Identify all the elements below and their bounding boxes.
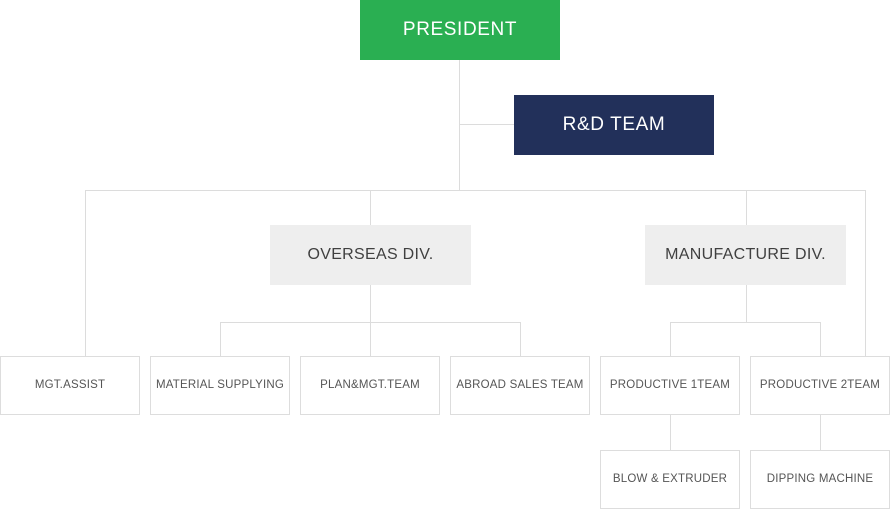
node-blow-extruder[interactable]: BLOW & EXTRUDER bbox=[600, 450, 740, 509]
connector-overseas-to-abroad-sales bbox=[520, 322, 521, 356]
connector-productive-1team-to-blow-extruder bbox=[670, 415, 671, 450]
connector-president-to-rnd bbox=[459, 124, 515, 125]
connector-president-trunk bbox=[459, 60, 460, 190]
connector-overseas-to-plan-mgt bbox=[370, 322, 371, 356]
connector-overseas-trunk bbox=[370, 285, 371, 322]
connector-bus-to-productive-2team bbox=[865, 190, 866, 356]
connector-bus-to-mgt-assist bbox=[85, 190, 86, 356]
node-overseas-div[interactable]: OVERSEAS DIV. bbox=[270, 225, 471, 285]
connector-productive-2team-to-dipping-machine bbox=[820, 415, 821, 450]
connector-manufacture-to-productive-1team bbox=[670, 322, 671, 356]
node-productive-2team[interactable]: PRODUCTIVE 2TEAM bbox=[750, 356, 890, 415]
node-abroad-sales-team[interactable]: ABROAD SALES TEAM bbox=[450, 356, 590, 415]
connector-manufacture-to-productive-2team-stub bbox=[820, 322, 821, 356]
connector-manufacture-child-bus bbox=[670, 322, 821, 323]
node-dipping-machine[interactable]: DIPPING MACHINE bbox=[750, 450, 890, 509]
connector-manufacture-trunk bbox=[746, 285, 747, 322]
node-manufacture-div[interactable]: MANUFACTURE DIV. bbox=[645, 225, 846, 285]
org-chart-canvas: PRESIDENT R&D TEAM OVERSEAS DIV. MANUFAC… bbox=[0, 0, 890, 509]
node-plan-mgt-team[interactable]: PLAN&MGT.TEAM bbox=[300, 356, 440, 415]
node-president[interactable]: PRESIDENT bbox=[360, 0, 560, 60]
node-productive-1team[interactable]: PRODUCTIVE 1TEAM bbox=[600, 356, 740, 415]
connector-division-bus bbox=[85, 190, 866, 191]
node-rnd-team[interactable]: R&D TEAM bbox=[514, 95, 714, 155]
node-material-supplying[interactable]: MATERIAL SUPPLYING bbox=[150, 356, 290, 415]
connector-bus-to-overseas bbox=[370, 190, 371, 225]
node-mgt-assist[interactable]: MGT.ASSIST bbox=[0, 356, 140, 415]
connector-bus-to-manufacture bbox=[746, 190, 747, 225]
connector-overseas-to-material-supplying bbox=[220, 322, 221, 356]
